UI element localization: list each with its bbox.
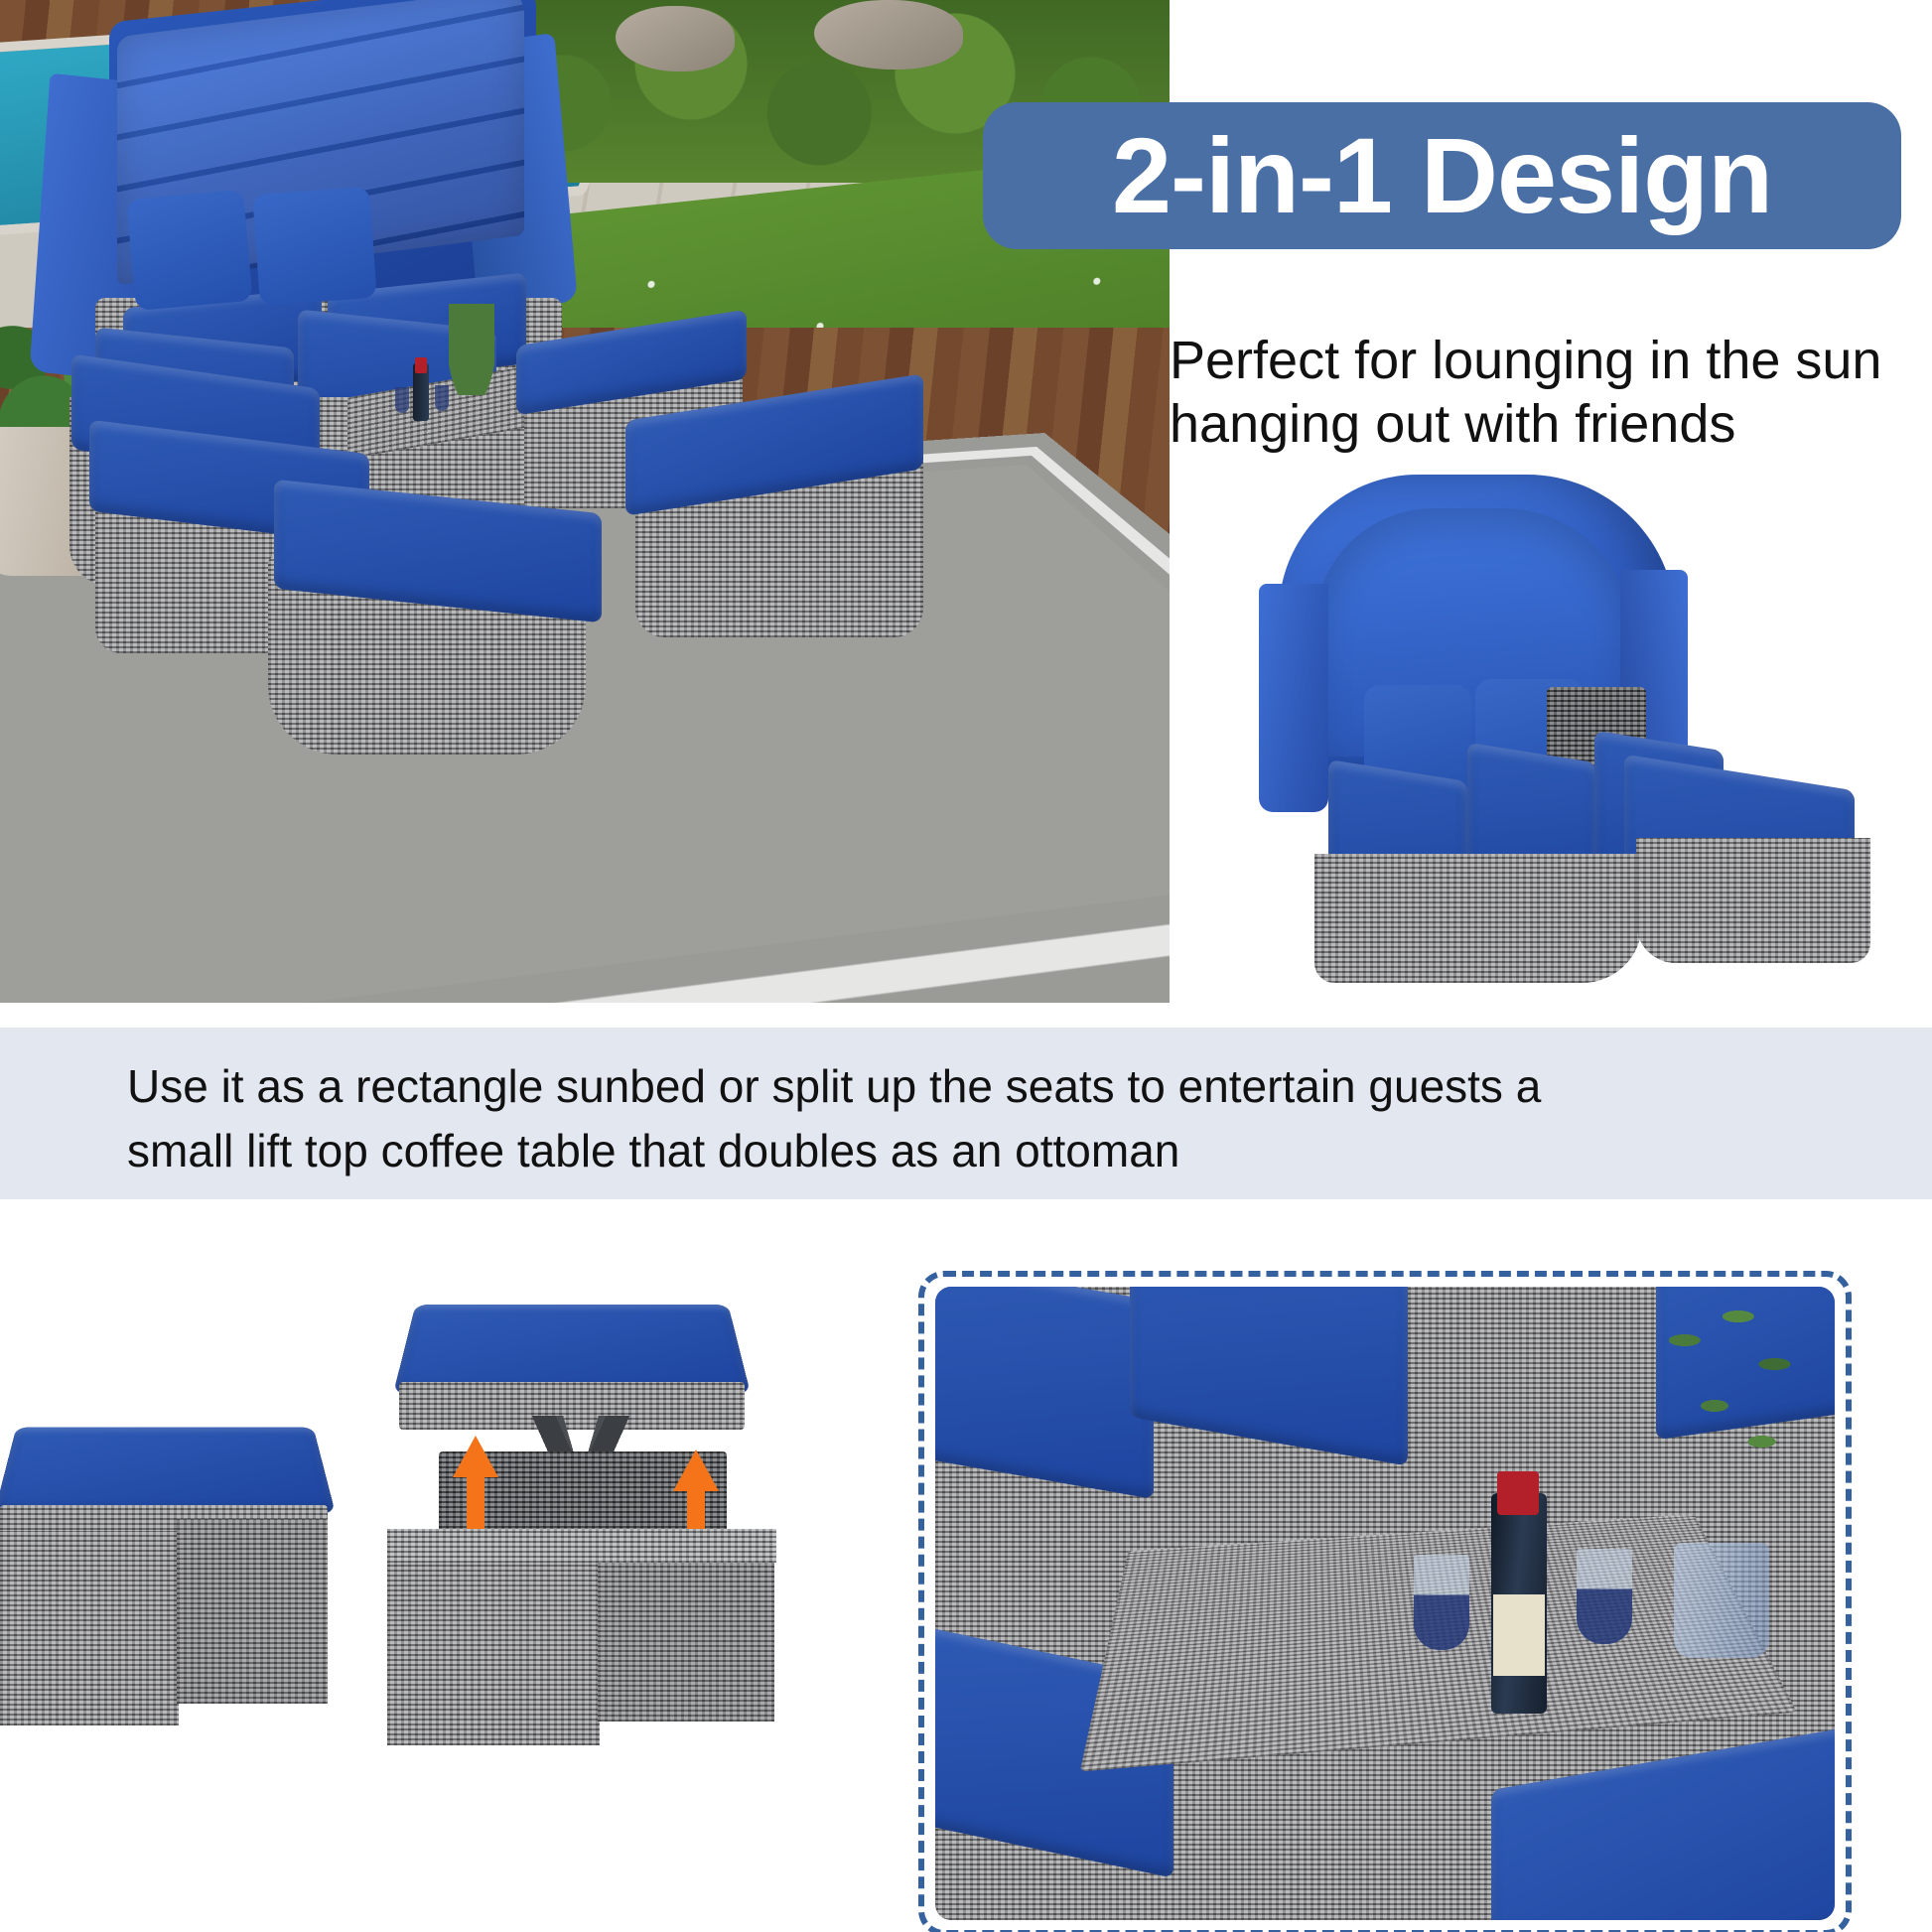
storage-ottoman-closed: [0, 1350, 357, 1747]
ottoman-closed-cushion: [0, 1428, 336, 1514]
coffee-table-closeup-photo: [935, 1287, 1835, 1920]
throw-pillow-right: [252, 187, 377, 306]
ottoman-open-body-front: [387, 1547, 600, 1745]
closeup-vase: [1674, 1543, 1769, 1658]
infographic-page: 2-in-1 Design Perfect for lounging in th…: [0, 0, 1932, 1932]
ottoman-open-lid-cushion: [393, 1305, 751, 1394]
ottoman-closed-body-side: [177, 1519, 328, 1704]
closeup-wine-bottle-label: [1493, 1594, 1545, 1676]
wine-bottle-foil: [415, 357, 427, 373]
bottom-section: [0, 1199, 1932, 1932]
throw-pillow-left: [126, 190, 252, 311]
lead-copy-line-2: hanging out with friends: [1170, 393, 1932, 457]
daybed-base-left: [1314, 854, 1642, 983]
olive-sprig-vase: [449, 304, 494, 395]
lead-copy-line-1: Perfect for lounging in the sun: [1170, 330, 1932, 393]
ottoman-closed-body-front: [0, 1531, 179, 1725]
feature-description-line-1: Use it as a rectangle sunbed or split up…: [127, 1054, 1835, 1119]
feature-badge-label: 2-in-1 Design: [1112, 122, 1772, 229]
assembled-daybed-product-shot: [1219, 475, 1914, 991]
feature-badge: 2-in-1 Design: [983, 102, 1901, 249]
feature-description-text: Use it as a rectangle sunbed or split up…: [127, 1054, 1835, 1184]
wine-glass-left: [395, 387, 409, 413]
canopy-drape-left-shot: [1259, 584, 1328, 812]
ottoman-open-rim: [387, 1529, 776, 1563]
closeup-wine-glass-left: [1414, 1555, 1469, 1650]
storage-ottoman-open: [387, 1287, 804, 1753]
feature-description-banner: Use it as a rectangle sunbed or split up…: [0, 1028, 1932, 1199]
feature-description-line-2: small lift top coffee table that doubles…: [127, 1119, 1835, 1183]
daybed-base-right: [1636, 838, 1870, 963]
wine-glass-right: [435, 385, 449, 411]
lead-copy: Perfect for lounging in the sun hanging …: [1170, 330, 1932, 456]
closeup-wine-bottle-foil: [1497, 1471, 1539, 1515]
top-section: 2-in-1 Design Perfect for lounging in th…: [0, 0, 1932, 1003]
garden-rock: [616, 6, 735, 71]
closeup-olive-plant: [1620, 1287, 1835, 1585]
